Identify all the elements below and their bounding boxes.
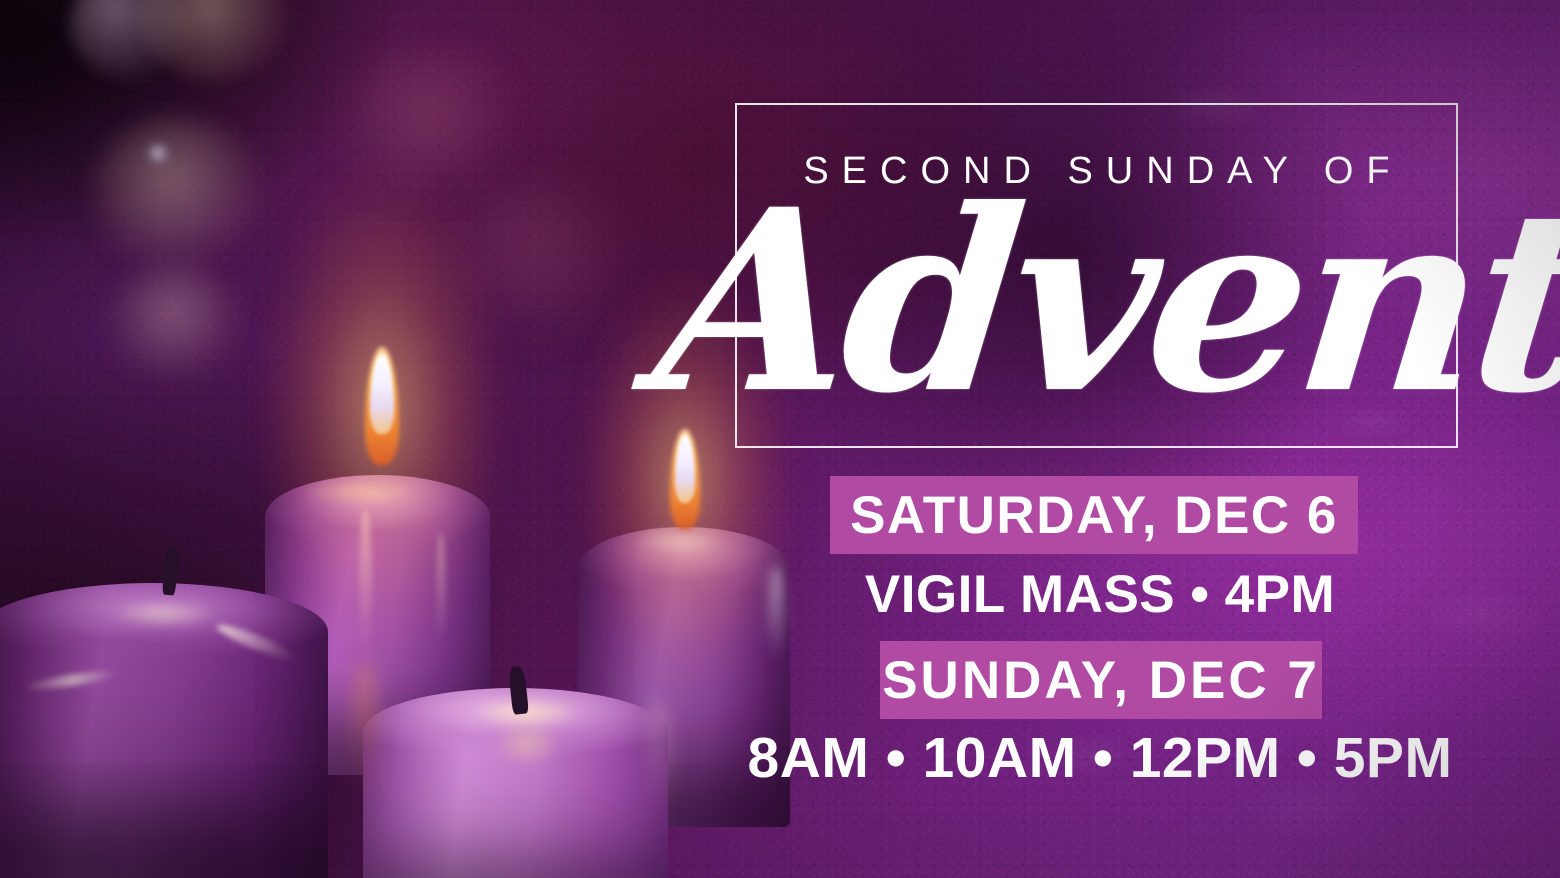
candle-far-left: [0, 583, 328, 878]
page-title: Advent: [647, 176, 1553, 426]
candle-front-center-melt-pool: [495, 722, 559, 766]
saturday-date-badge: SATURDAY, DEC 6: [830, 476, 1358, 554]
candle-back-left-flame: [365, 347, 399, 465]
candle-far-left-melt-highlight: [108, 601, 218, 627]
sunday-date-badge: SUNDAY, DEC 7: [880, 641, 1322, 719]
sunday-date-label: SUNDAY, DEC 7: [882, 650, 1320, 711]
candle-far-left-body: [0, 583, 328, 878]
saturday-detail-label: VIGIL MASS • 4PM: [760, 568, 1440, 621]
warm-rim-light: [352, 660, 378, 810]
advent-poster: SECOND SUNDAY OF Advent SATURDAY, DEC 6 …: [0, 0, 1560, 878]
saturday-date-label: SATURDAY, DEC 6: [850, 485, 1338, 546]
candle-front-center: [363, 688, 668, 878]
sunday-times-label: 8AM • 10AM • 12PM • 5PM: [740, 730, 1460, 787]
warm-rim-light: [648, 700, 670, 840]
